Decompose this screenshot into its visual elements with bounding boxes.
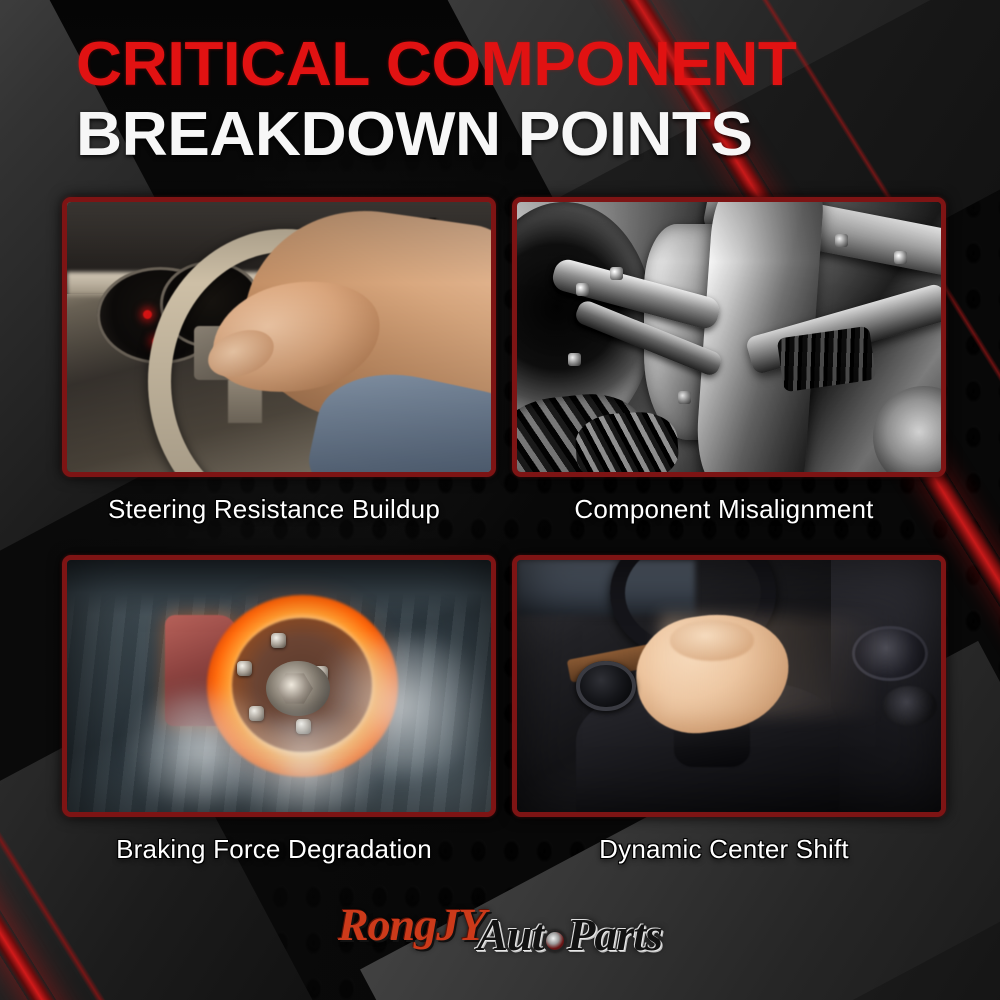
brand-suffix-post: Parts	[567, 909, 662, 960]
feature-card-steering: Steering Resistance Buildup	[62, 197, 486, 525]
photo-frame-misalignment	[512, 197, 946, 477]
brand-suffix-autoparts: AutParts	[477, 908, 662, 961]
feature-grid: Steering Resistance Buildup	[62, 197, 936, 865]
feature-row-top: Steering Resistance Buildup	[62, 197, 936, 525]
photo-frame-center-shift	[512, 555, 946, 817]
brand-logo: RongJY AutParts	[0, 898, 1000, 951]
driver-hands-on-steering-wheel-photo	[67, 202, 491, 472]
promo-banner: CRITICAL COMPONENT BREAKDOWN POINTS	[0, 0, 1000, 1000]
feature-card-braking: Braking Force Degradation	[62, 555, 486, 865]
feature-caption-misalignment: Component Misalignment	[512, 494, 936, 525]
photo-frame-steering	[62, 197, 496, 477]
feature-caption-braking: Braking Force Degradation	[62, 834, 486, 865]
feature-card-misalignment: Component Misalignment	[512, 197, 936, 525]
title-line-secondary: BREAKDOWN POINTS	[76, 104, 982, 166]
feature-caption-steering: Steering Resistance Buildup	[62, 494, 486, 525]
title-line-primary: CRITICAL COMPONENT	[76, 34, 982, 96]
photo-frame-braking	[62, 555, 496, 817]
glowing-hot-brake-rotor-photo	[67, 560, 491, 812]
brand-name-rongjy: RongJY	[338, 898, 485, 951]
hand-on-gear-shifter-photo	[517, 560, 941, 812]
page-title: CRITICAL COMPONENT BREAKDOWN POINTS	[76, 34, 956, 166]
suspension-steering-linkage-grayscale-photo	[517, 202, 941, 472]
feature-caption-center-shift: Dynamic Center Shift	[512, 834, 936, 865]
brand-suffix-pre: Aut	[477, 909, 543, 960]
feature-row-bottom: Braking Force Degradation	[62, 555, 936, 865]
wheel-icon	[544, 930, 566, 952]
feature-card-center-shift: Dynamic Center Shift	[512, 555, 936, 865]
